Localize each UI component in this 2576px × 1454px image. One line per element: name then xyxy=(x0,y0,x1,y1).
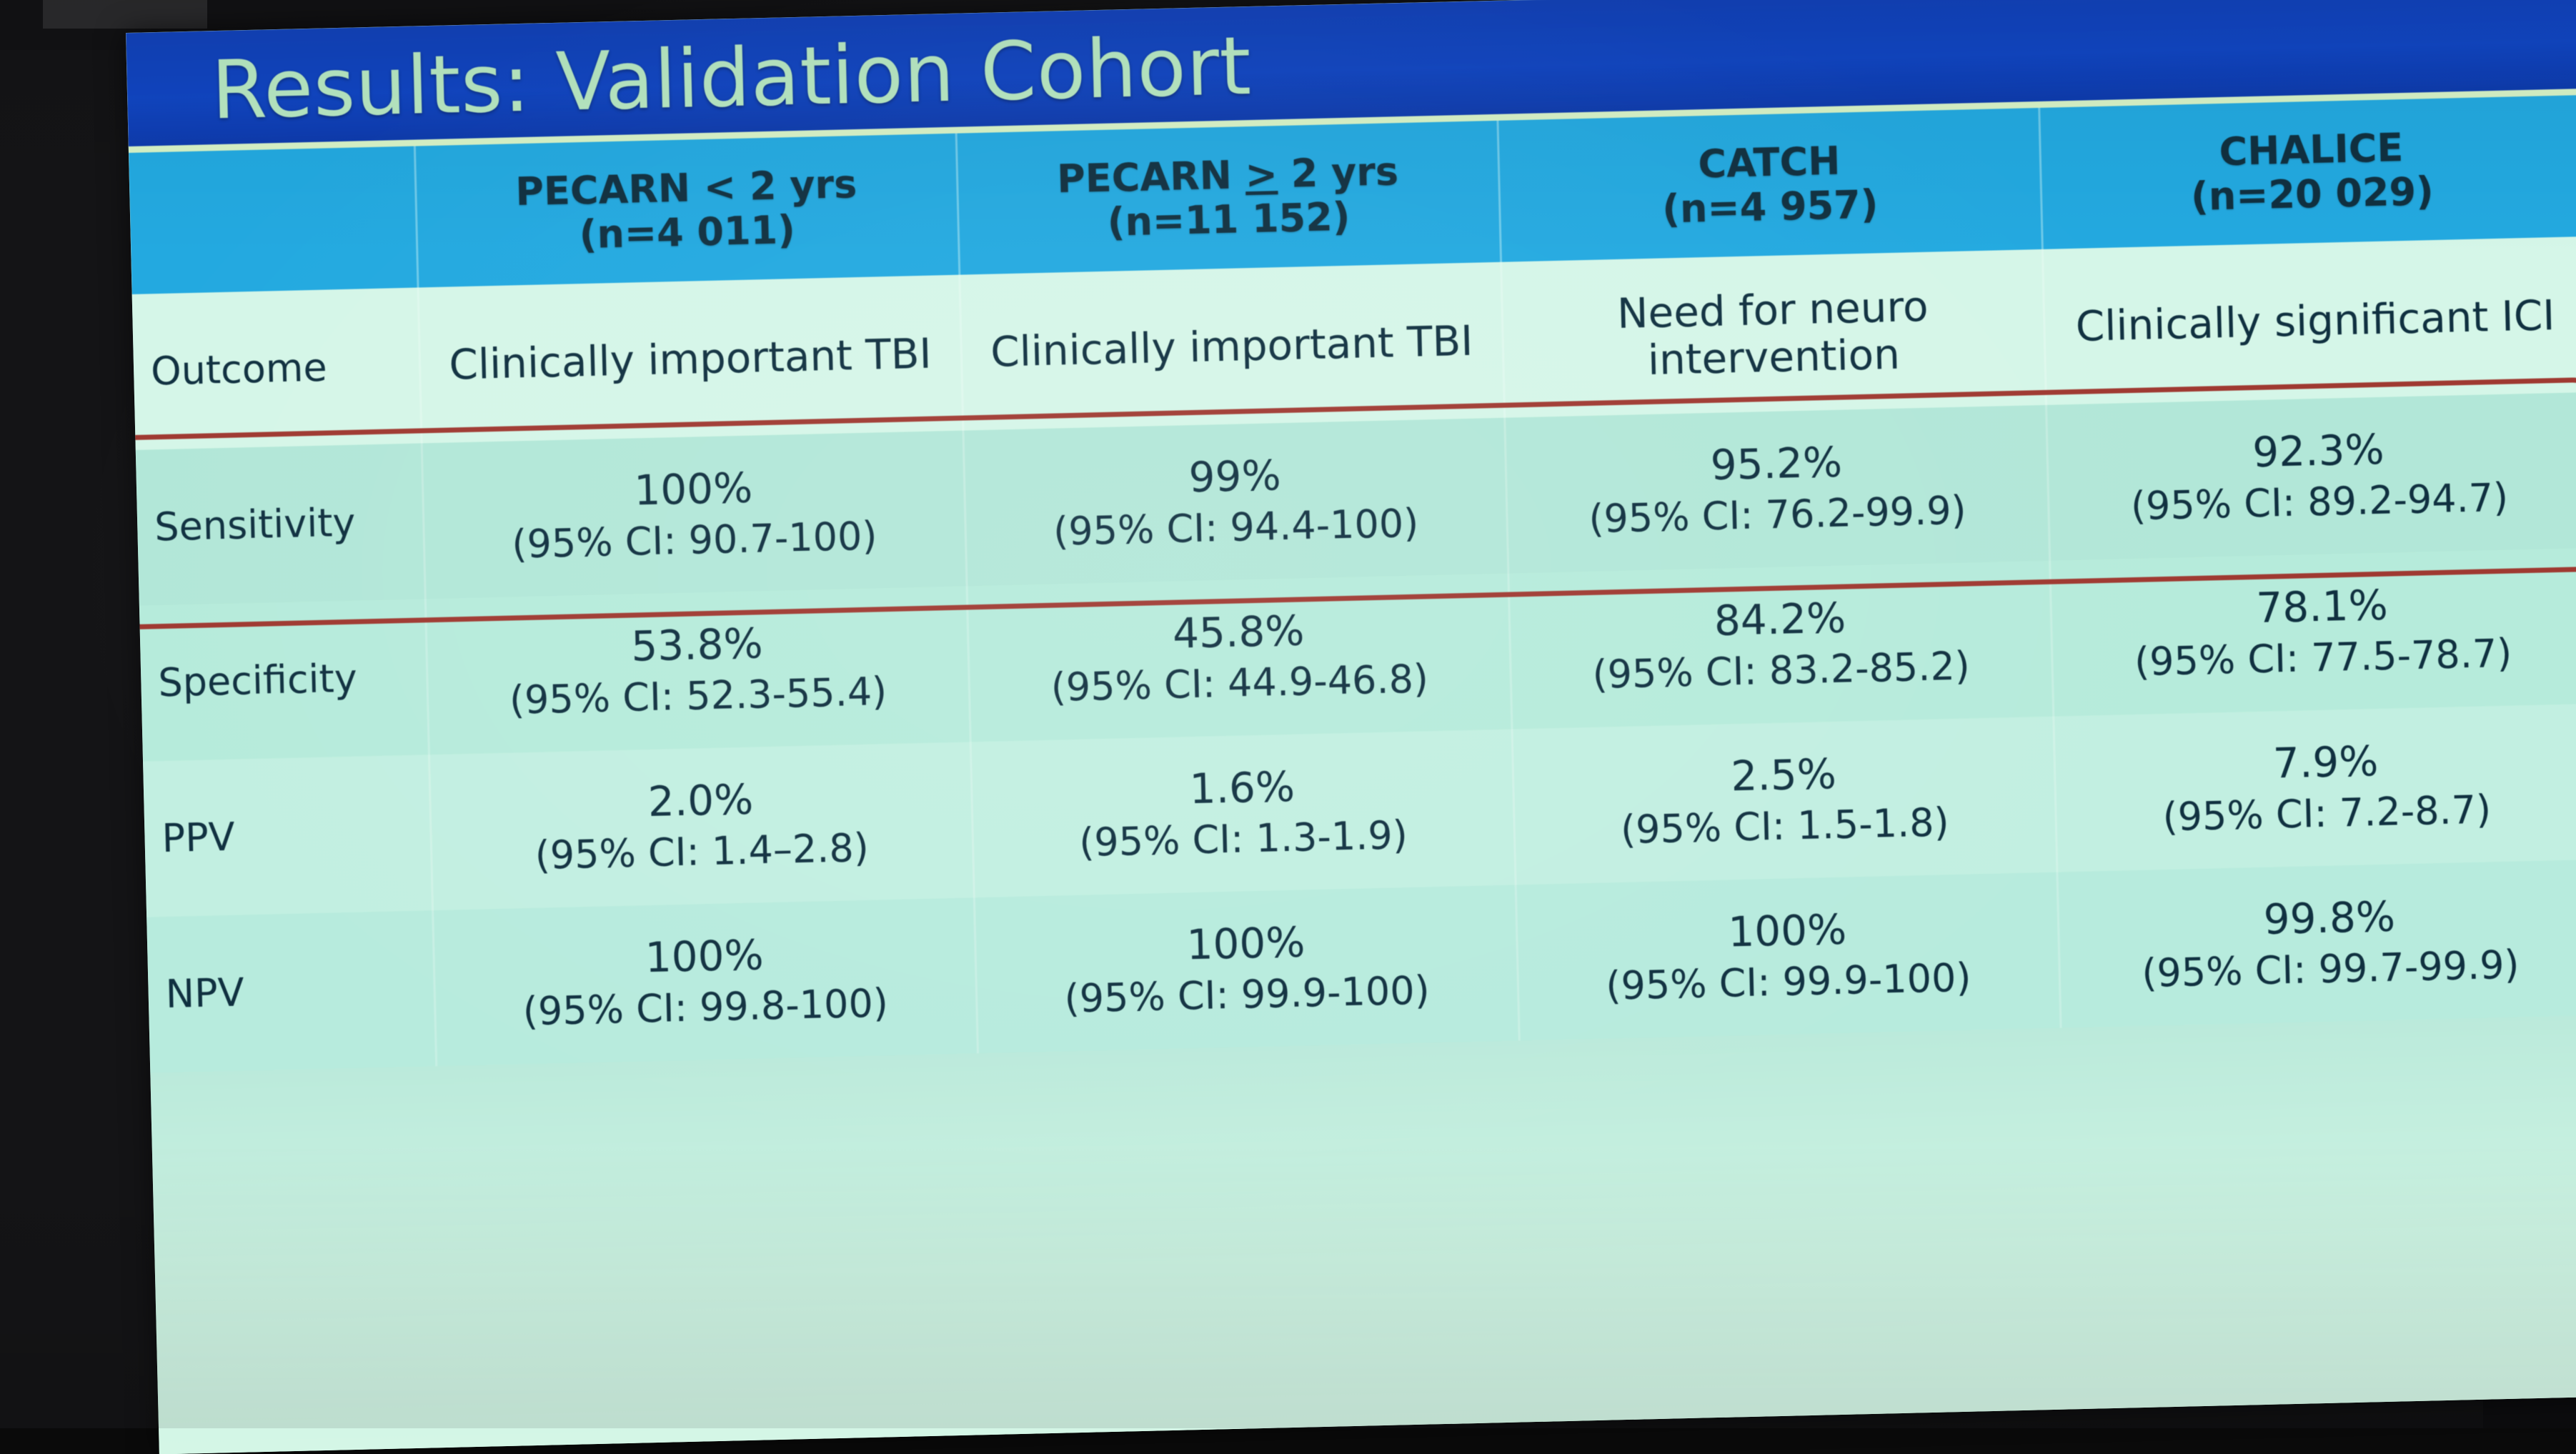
slide-title: Results: Validation Cohort xyxy=(210,16,1253,141)
cell-outcome-pecarn-over2: Clinically important TBI xyxy=(959,262,1504,431)
cell-value: Clinically significant ICI xyxy=(2044,291,2576,351)
cell-npv-pecarn-over2: 100% (95% CI: 99.9-100) xyxy=(974,885,1519,1054)
row-label: Outcome xyxy=(132,287,422,449)
cell-sensitivity-catch: 95.2% (95% CI: 76.2-99.9) xyxy=(1504,405,2049,574)
cell-ppv-pecarn-under2: 2.0% (95% CI: 1.4–2.8) xyxy=(429,742,974,910)
screen-bezel-notch xyxy=(43,0,207,29)
row-label: NPV xyxy=(146,910,436,1072)
column-header-name-prefix: PECARN xyxy=(1057,152,1246,201)
projected-slide-scene: Results: Validation Cohort PECARN < xyxy=(0,0,2576,1428)
results-table: PECARN < 2 yrs (n=4 011) PECARN > 2 yrs … xyxy=(129,95,2576,1072)
cell-specificity-catch: 84.2% (95% CI: 83.2-85.2) xyxy=(1508,561,2053,730)
cell-outcome-pecarn-under2: Clinically important TBI xyxy=(418,275,963,444)
cell-value: Clinically important TBI xyxy=(962,317,1502,377)
cell-value: Need for neuro intervention xyxy=(1503,280,2044,387)
column-header-pecarn-under2: PECARN < 2 yrs (n=4 011) xyxy=(414,134,959,288)
cell-specificity-chalice: 78.1% (95% CI: 77.5-78.7) xyxy=(2049,548,2576,717)
row-label: Specificity xyxy=(139,599,429,761)
cell-sensitivity-chalice: 92.3% (95% CI: 89.2-94.7) xyxy=(2046,392,2576,561)
column-header-chalice: CHALICE (n=20 029) xyxy=(2039,95,2576,249)
cell-npv-chalice: 99.8% (95% CI: 99.7-99.9) xyxy=(2057,860,2576,1028)
cell-ppv-pecarn-over2: 1.6% (95% CI: 1.3-1.9) xyxy=(970,730,1516,898)
cell-ppv-catch: 2.5% (95% CI: 1.5-1.8) xyxy=(1511,717,2057,885)
cell-specificity-pecarn-under2: 53.8% (95% CI: 52.3-55.4) xyxy=(425,586,970,755)
cell-sensitivity-pecarn-over2: 99% (95% CI: 94.4-100) xyxy=(963,418,1508,587)
cell-ppv-chalice: 7.9% (95% CI: 7.2-8.7) xyxy=(2053,704,2576,872)
greater-equal-icon: > xyxy=(1245,151,1278,197)
cell-outcome-catch: Need for neuro intervention xyxy=(1501,249,2046,418)
presentation-slide: Results: Validation Cohort PECARN < xyxy=(126,0,2576,1454)
slide-background-fill xyxy=(150,1010,2576,1454)
column-header-catch: CATCH (n=4 957) xyxy=(1497,108,2042,262)
cell-npv-pecarn-under2: 100% (95% CI: 99.8-100) xyxy=(432,897,978,1066)
column-header-pecarn-over2: PECARN > 2 yrs (n=11 152) xyxy=(956,121,1501,275)
table-corner-cell xyxy=(129,146,418,294)
cell-sensitivity-pecarn-under2: 100% (95% CI: 90.7-100) xyxy=(422,431,967,599)
cell-value: Clinically important TBI xyxy=(420,329,960,389)
cell-specificity-pecarn-over2: 45.8% (95% CI: 44.9-46.8) xyxy=(967,574,1512,742)
cell-outcome-chalice: Clinically significant ICI xyxy=(2042,236,2576,405)
cell-npv-catch: 100% (95% CI: 99.9-100) xyxy=(1516,872,2061,1041)
column-header-name-suffix: 2 yrs xyxy=(1277,149,1399,196)
row-label: PPV xyxy=(143,755,432,917)
row-label: Sensitivity xyxy=(136,443,425,605)
